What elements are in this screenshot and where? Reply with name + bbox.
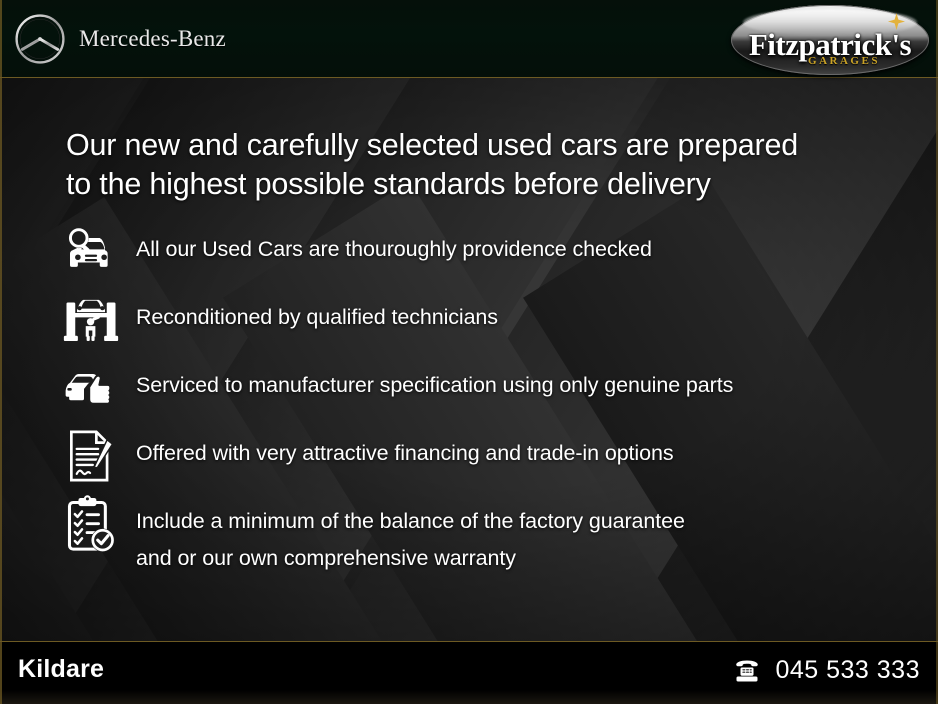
car-magnifier-inspection-icon [60, 224, 122, 280]
headline: Our new and carefully selected used cars… [66, 126, 896, 204]
list-item-line-1: Reconditioned by qualified technicians [136, 305, 498, 329]
list-item-label: Offered with very attractive financing a… [136, 428, 673, 472]
phone-contact[interactable]: 045 533 333 [733, 656, 920, 685]
list-item-line-1: Include a minimum of the balance of the … [136, 509, 685, 533]
list-item: Reconditioned by qualified technicians [60, 292, 920, 348]
list-item: Include a minimum of the balance of the … [60, 496, 920, 577]
list-item: Offered with very attractive financing a… [60, 428, 920, 484]
header-bar: Mercedes-Benz Fitzpatrick's GARAGES [0, 0, 938, 78]
list-item-line-2: and or our own comprehensive warranty [136, 540, 685, 577]
content-area: Our new and carefully selected used cars… [0, 78, 938, 641]
car-on-lift-mechanic-icon [60, 292, 122, 348]
footer-bar: Kildare 045 533 333 [0, 641, 938, 704]
list-item-label: Serviced to manufacturer specification u… [136, 360, 733, 404]
list-item: Serviced to manufacturer specification u… [60, 360, 920, 416]
list-item-line-1: All our Used Cars are thouroughly provid… [136, 237, 652, 261]
telephone-icon [733, 659, 761, 683]
benefits-list: All our Used Cars are thouroughly provid… [60, 224, 920, 589]
car-thumbs-up-icon [60, 360, 122, 416]
garages-subtext: GARAGES [731, 55, 929, 67]
sparkle-icon [888, 13, 905, 30]
clipboard-checklist-verified-icon [60, 496, 122, 552]
list-item-line-1: Offered with very attractive financing a… [136, 441, 673, 465]
phone-number: 045 533 333 [775, 656, 920, 685]
document-signature-pen-icon [60, 428, 122, 484]
mercedes-benz-logo: Mercedes-Benz [14, 13, 226, 65]
fitzpatricks-garages-logo: Fitzpatrick's GARAGES [731, 5, 929, 75]
list-item-label: Include a minimum of the balance of the … [136, 496, 685, 577]
location-label: Kildare [18, 655, 104, 684]
headline-line-1: Our new and carefully selected used cars… [66, 128, 798, 162]
list-item-label: Reconditioned by qualified technicians [136, 292, 498, 336]
promo-slide: Mercedes-Benz Fitzpatrick's GARAGES Our … [0, 0, 938, 704]
mercedes-benz-wordmark: Mercedes-Benz [79, 26, 226, 52]
headline-line-2: to the highest possible standards before… [66, 167, 711, 201]
list-item: All our Used Cars are thouroughly provid… [60, 224, 920, 280]
mercedes-benz-star-icon [14, 13, 66, 65]
left-edge-border [0, 0, 2, 704]
list-item-line-1: Serviced to manufacturer specification u… [136, 373, 733, 397]
content-layer: Our new and carefully selected used cars… [0, 78, 938, 641]
list-item-label: All our Used Cars are thouroughly provid… [136, 224, 652, 268]
